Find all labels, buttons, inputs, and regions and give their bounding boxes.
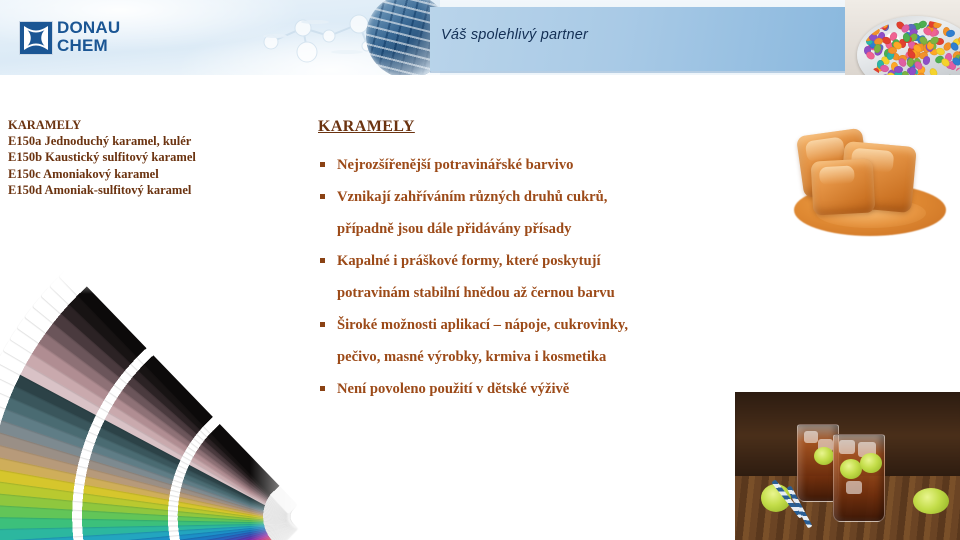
candy-bean [928,67,939,75]
caramel-code-list: KARAMELYE150a Jednoduchý karamel, kulérE… [8,117,308,198]
bullet-square-icon [320,322,325,327]
donau-chem-hourglass-mark [19,21,53,55]
candy-beans [863,20,960,75]
candy-bean [888,46,897,53]
bullet-line: potravinám stabilní hnědou až černou bar… [337,277,788,309]
brand-logo[interactable]: DONAU CHEM [19,19,149,59]
bullet-item: Nejrozšířenější potravinářské barvivo [318,149,788,181]
iced-drinks-photo [732,392,960,540]
bullet-line: Nejrozšířenější potravinářské barvivo [337,149,788,181]
bullet-item: Kapalné i práškové formy, které poskytuj… [318,245,788,309]
bullet-item: Široké možnosti aplikací – nápoje, cukro… [318,309,788,373]
logo-wordmark: DONAU CHEM [57,19,152,55]
bullet-line: pečivo, masné výrobky, krmiva i kosmetik… [337,341,788,373]
header-divider [430,71,846,73]
tagline-text: Váš spolehlivý partner [441,27,588,43]
slide-root: Váš spolehlivý partner DONAU CHEM [0,0,960,540]
bullet-square-icon [320,258,325,263]
bullet-line: Široké možnosti aplikací – nápoje, cukro… [337,309,788,341]
caramel-list-item-2: E150c Amoniakový karamel [8,166,308,182]
bullet-line: Kapalné i práškové formy, které poskytuj… [337,245,788,277]
bullet-square-icon [320,194,325,199]
main-content: KARAMELY Nejrozšířenější potravinářské b… [318,118,788,405]
bullet-square-icon [320,386,325,391]
drink-glass-front [833,434,885,522]
page-header: Váš spolehlivý partner DONAU CHEM [0,0,960,75]
caramel-cube-3 [811,158,876,215]
bullet-line: Není povoleno použití v dětské výživě [337,373,788,405]
caramel-list-title: KARAMELY [8,117,308,133]
caramel-list-item-3: E150d Amoniak-sulfitový karamel [8,182,308,198]
logo-line-2: CHEM [57,37,152,55]
logo-line-1: DONAU [57,19,152,37]
caramel-cubes-photo [786,110,956,250]
lime-half-right [913,488,949,514]
bullet-list: Nejrozšířenější potravinářské barvivoVzn… [318,149,788,405]
bullet-line: Vznikají zahříváním různých druhů cukrů, [337,181,788,213]
bullet-item: Vznikají zahříváním různých druhů cukrů,… [318,181,788,245]
content-title: KARAMELY [318,118,788,136]
bullet-item: Není povoleno použití v dětské výživě [318,373,788,405]
caramel-list-item-0: E150a Jednoduchý karamel, kulér [8,133,308,149]
bullet-line: případně jsou dále přidávány přísady [337,213,788,245]
candy-bowl-photo [845,0,960,75]
caramel-list-item-1: E150b Kaustický sulfitový karamel [8,149,308,165]
fan-right-fade [250,268,320,540]
candy-bean [945,29,955,38]
bullet-square-icon [320,162,325,167]
